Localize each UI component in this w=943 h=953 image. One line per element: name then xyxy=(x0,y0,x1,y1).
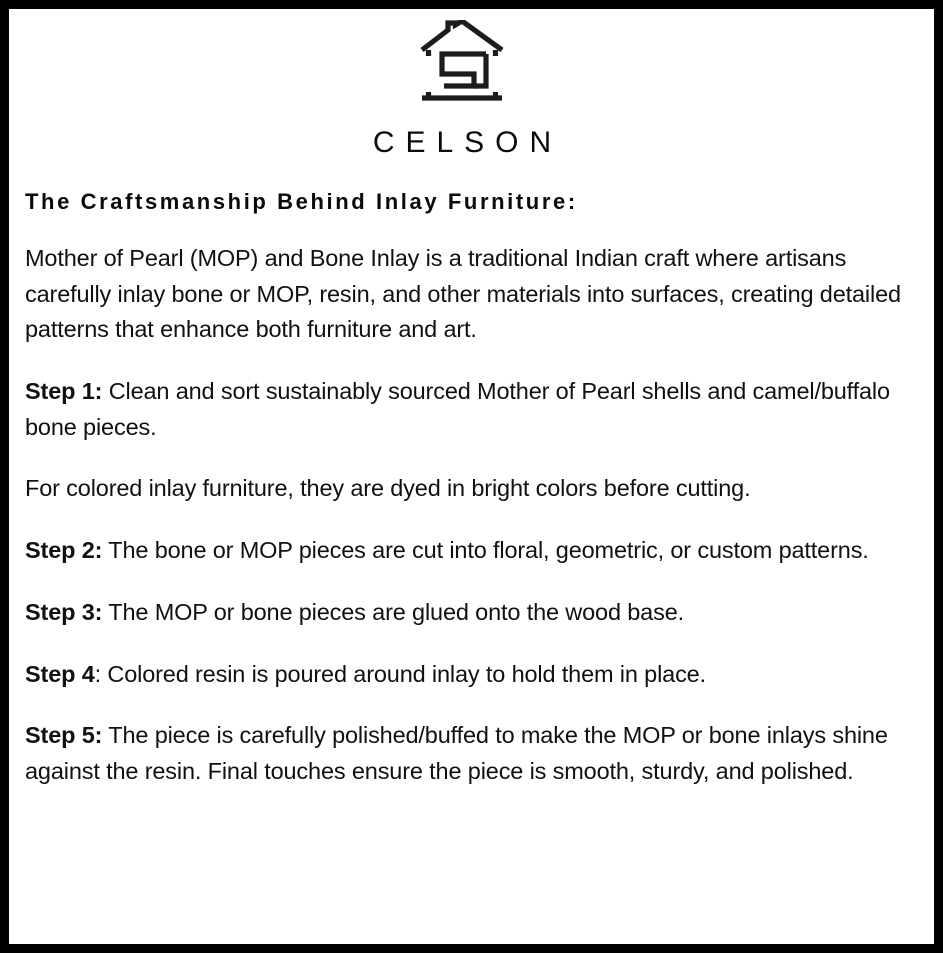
paragraph-label: Step 3: xyxy=(25,599,102,625)
house-monogram-logo-icon xyxy=(418,20,506,116)
page-content: CELSON The Craftsmanship Behind Inlay Fu… xyxy=(9,9,934,944)
document-page: CELSON The Craftsmanship Behind Inlay Fu… xyxy=(0,0,943,953)
paragraph-step-2: Step 2: The bone or MOP pieces are cut i… xyxy=(25,533,908,569)
paragraph-intro: Mother of Pearl (MOP) and Bone Inlay is … xyxy=(25,241,908,348)
paragraph-text: Clean and sort sustainably sourced Mothe… xyxy=(25,378,890,440)
paragraph-step-1: Step 1: Clean and sort sustainably sourc… xyxy=(25,374,908,445)
paragraph-label: Step 4 xyxy=(25,661,95,687)
paragraph-step-3: Step 3: The MOP or bone pieces are glued… xyxy=(25,595,908,631)
paragraph-colored-inlay: For colored inlay furniture, they are dy… xyxy=(25,471,908,507)
paragraph-text: For colored inlay furniture, they are dy… xyxy=(25,475,750,501)
paragraph-label: Step 5: xyxy=(25,722,102,748)
paragraph-text: The piece is carefully polished/buffed t… xyxy=(25,722,888,784)
page-title: The Craftsmanship Behind Inlay Furniture… xyxy=(25,189,908,215)
paragraph-label: Step 2: xyxy=(25,537,102,563)
paragraph-step-4: Step 4: Colored resin is poured around i… xyxy=(25,657,908,693)
article-body: Mother of Pearl (MOP) and Bone Inlay is … xyxy=(25,215,908,790)
paragraph-text: Mother of Pearl (MOP) and Bone Inlay is … xyxy=(25,245,901,342)
paragraph-step-5: Step 5: The piece is carefully polished/… xyxy=(25,718,908,789)
paragraph-text: The MOP or bone pieces are glued onto th… xyxy=(102,599,684,625)
brand-header: CELSON xyxy=(16,16,908,159)
paragraph-text: The bone or MOP pieces are cut into flor… xyxy=(102,537,868,563)
brand-name: CELSON xyxy=(16,127,908,159)
paragraph-text: : Colored resin is poured around inlay t… xyxy=(95,661,706,687)
paragraph-label: Step 1: xyxy=(25,378,102,404)
